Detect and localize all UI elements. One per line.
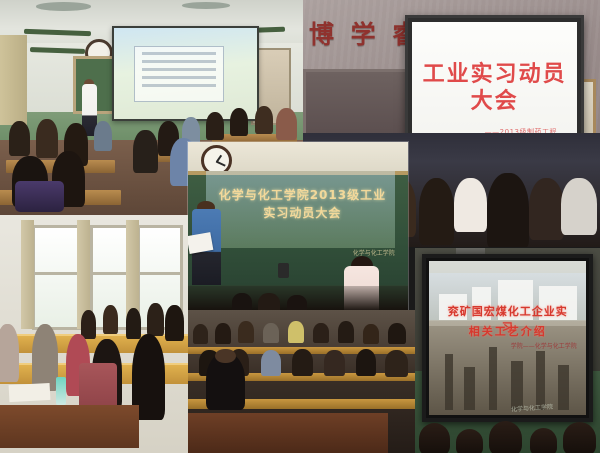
audience-heads — [415, 408, 600, 453]
projected-title-line1: 化学与化工学院2013级工业 — [210, 187, 395, 204]
student — [32, 324, 58, 391]
open-notebook — [9, 383, 51, 402]
projected-title-line2: 实习动员大会 — [210, 205, 395, 222]
panel-students-by-windows — [0, 215, 188, 453]
projection-screen — [112, 26, 258, 121]
wall-calligraphy: 博 学 睿 — [309, 22, 410, 64]
student — [165, 305, 184, 341]
plant-tower — [558, 365, 569, 410]
panel-blackboard-projected-title: 化学与化工学院2013级工业 实习动员大会 化学与化工学院 — [188, 142, 408, 310]
student — [454, 178, 487, 232]
student — [193, 324, 209, 344]
student — [255, 106, 273, 134]
student — [338, 321, 354, 342]
front-desk — [0, 405, 139, 448]
student-head — [530, 428, 558, 453]
slide-title-line2: 大会 — [471, 88, 519, 116]
microphone — [278, 263, 289, 278]
student — [9, 121, 30, 156]
student — [263, 323, 279, 343]
student — [94, 121, 112, 151]
student — [133, 130, 157, 173]
student — [258, 293, 280, 310]
student — [103, 305, 118, 334]
plant-tower — [464, 367, 475, 410]
panel-plant-process-slide: 兖矿国宏煤化工企业实习 相关工艺介绍 学院——化学与化工学院 化学与化工学院 — [415, 248, 600, 453]
student — [238, 321, 254, 342]
window — [32, 225, 83, 331]
student — [0, 324, 19, 381]
ceiling-fan — [36, 2, 91, 11]
student — [324, 350, 344, 376]
student — [356, 349, 376, 376]
plant-photo — [429, 326, 586, 415]
photo-collage: 博 学 睿 公 工业实习动员 大会 ——2013级制药工程 — [0, 0, 600, 453]
panel-lecture-hall-rows — [188, 310, 415, 453]
student — [206, 112, 224, 140]
clock-minute-hand — [217, 161, 226, 166]
window-curtain — [21, 220, 34, 329]
student — [388, 323, 406, 344]
student — [419, 178, 455, 245]
student — [292, 349, 312, 376]
student — [126, 308, 141, 339]
slide-title-line1: 工业实习动员 — [423, 61, 567, 89]
plant-tower — [536, 351, 545, 410]
student — [363, 324, 379, 344]
student — [385, 350, 408, 377]
student — [313, 323, 329, 343]
slide-byline: 学院——化学与化工学院 — [511, 341, 577, 350]
student — [147, 303, 164, 336]
student — [81, 310, 96, 339]
student — [230, 108, 248, 136]
plant-tower — [511, 361, 524, 410]
student — [276, 108, 297, 140]
projected-title: 化学与化工学院2013级工业 实习动员大会 — [210, 187, 395, 222]
backpack — [15, 181, 63, 211]
student — [287, 295, 307, 310]
ceiling-fan — [182, 2, 230, 8]
student — [215, 323, 231, 344]
student — [288, 321, 304, 342]
foreground-student-head — [215, 349, 235, 363]
water-bottle — [56, 377, 65, 406]
student — [561, 178, 597, 235]
student — [529, 178, 565, 240]
plant-tower — [445, 354, 453, 409]
projection-frame: 兖矿国宏煤化工企业实习 相关工艺介绍 学院——化学与化工学院 — [422, 254, 593, 422]
window-curtain — [0, 35, 27, 126]
process-slide: 兖矿国宏煤化工企业实习 相关工艺介绍 学院——化学与化工学院 — [429, 261, 586, 415]
student — [487, 173, 529, 247]
plant-tower — [489, 347, 497, 409]
student-head — [489, 421, 522, 453]
student — [36, 119, 57, 158]
student-head — [456, 429, 484, 453]
projected-window — [134, 46, 224, 102]
student — [232, 293, 252, 310]
student-head — [419, 423, 450, 453]
student-head — [563, 422, 596, 453]
student — [261, 350, 281, 376]
slide-title-line2: 相关工艺介绍 — [444, 323, 573, 339]
front-desk — [188, 413, 388, 453]
